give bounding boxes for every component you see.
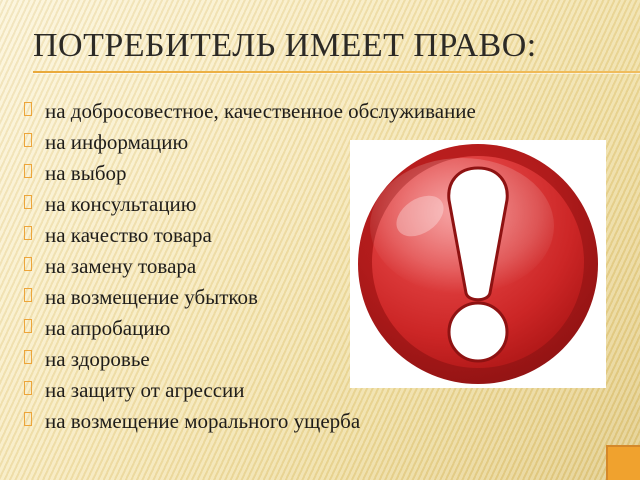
box-glyph-bullet-icon: [24, 164, 32, 178]
slide-canvas: ПОТРЕБИТЕЛЬ ИМЕЕТ ПРАВО: на добросовестн…: [0, 0, 640, 480]
list-item-label: на замену товара: [45, 251, 196, 282]
list-item-label: на добросовестное, качественное обслужив…: [45, 96, 476, 127]
box-glyph-bullet-icon: [24, 102, 32, 116]
list-item-label: на информацию: [45, 127, 188, 158]
list-item-label: на консультацию: [45, 189, 196, 220]
title-underline-rule: [33, 71, 640, 73]
box-glyph-bullet-icon: [24, 412, 32, 426]
red-exclamation-warning-icon: [350, 140, 606, 388]
box-glyph-bullet-icon: [24, 381, 32, 395]
exclamation-dot: [449, 303, 507, 361]
orange-corner-block: [606, 445, 640, 480]
box-glyph-bullet-icon: [24, 319, 32, 333]
box-glyph-bullet-icon: [24, 133, 32, 147]
list-item: на добросовестное, качественное обслужив…: [24, 96, 624, 127]
list-item-label: на возмещение убытков: [45, 282, 258, 313]
box-glyph-bullet-icon: [24, 350, 32, 364]
list-item-label: на апробацию: [45, 313, 170, 344]
list-item-label: на защиту от агрессии: [45, 375, 245, 406]
box-glyph-bullet-icon: [24, 257, 32, 271]
list-item: на возмещение морального ущерба: [24, 406, 624, 437]
list-item-label: на возмещение морального ущерба: [45, 406, 360, 437]
box-glyph-bullet-icon: [24, 288, 32, 302]
list-item-label: на выбор: [45, 158, 127, 189]
list-item-label: на здоровье: [45, 344, 150, 375]
page-title: ПОТРЕБИТЕЛЬ ИМЕЕТ ПРАВО:: [33, 24, 623, 68]
box-glyph-bullet-icon: [24, 226, 32, 240]
warning-circle-graphic: [350, 140, 606, 388]
box-glyph-bullet-icon: [24, 195, 32, 209]
list-item-label: на качество товара: [45, 220, 212, 251]
